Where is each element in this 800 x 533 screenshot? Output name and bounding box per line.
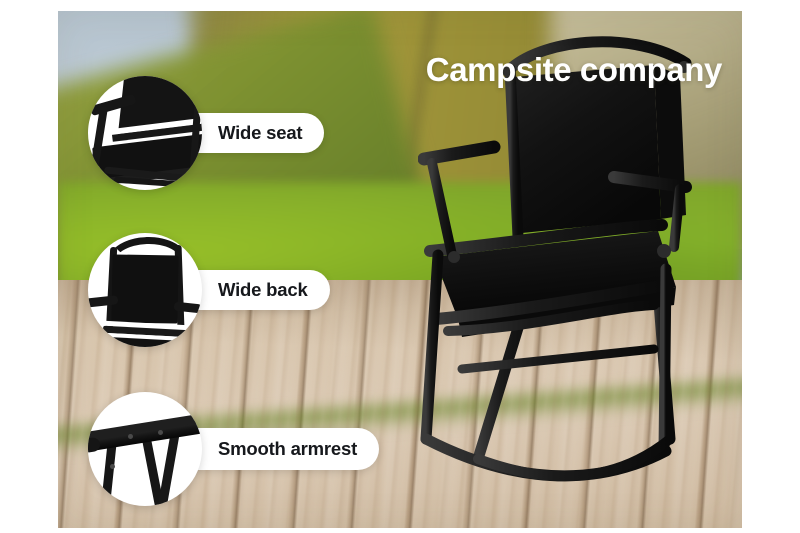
feature-label-wide-back: Wide back — [218, 279, 308, 301]
feature-callout-wide-back: Wide back — [88, 233, 330, 347]
feature-callout-wide-seat: Wide seat — [88, 76, 324, 190]
feature-label-wide-seat: Wide seat — [218, 122, 302, 144]
product-chair — [418, 19, 742, 519]
smooth-armrest-closeup-thumbnail — [88, 392, 202, 506]
smooth-armrest-closeup-image — [88, 392, 202, 506]
wide-seat-closeup-thumbnail — [88, 76, 202, 190]
feature-label-smooth-armrest: Smooth armrest — [218, 438, 357, 460]
product-poster: Campsite company Wide — [0, 0, 800, 533]
feature-callout-smooth-armrest: Smooth armrest — [88, 392, 379, 506]
wide-seat-closeup-image — [88, 76, 202, 190]
scene-photo: Campsite company Wide — [58, 11, 742, 528]
page-title: Campsite company — [426, 53, 722, 88]
wide-back-closeup-image — [88, 233, 202, 347]
wide-back-closeup-thumbnail — [88, 233, 202, 347]
